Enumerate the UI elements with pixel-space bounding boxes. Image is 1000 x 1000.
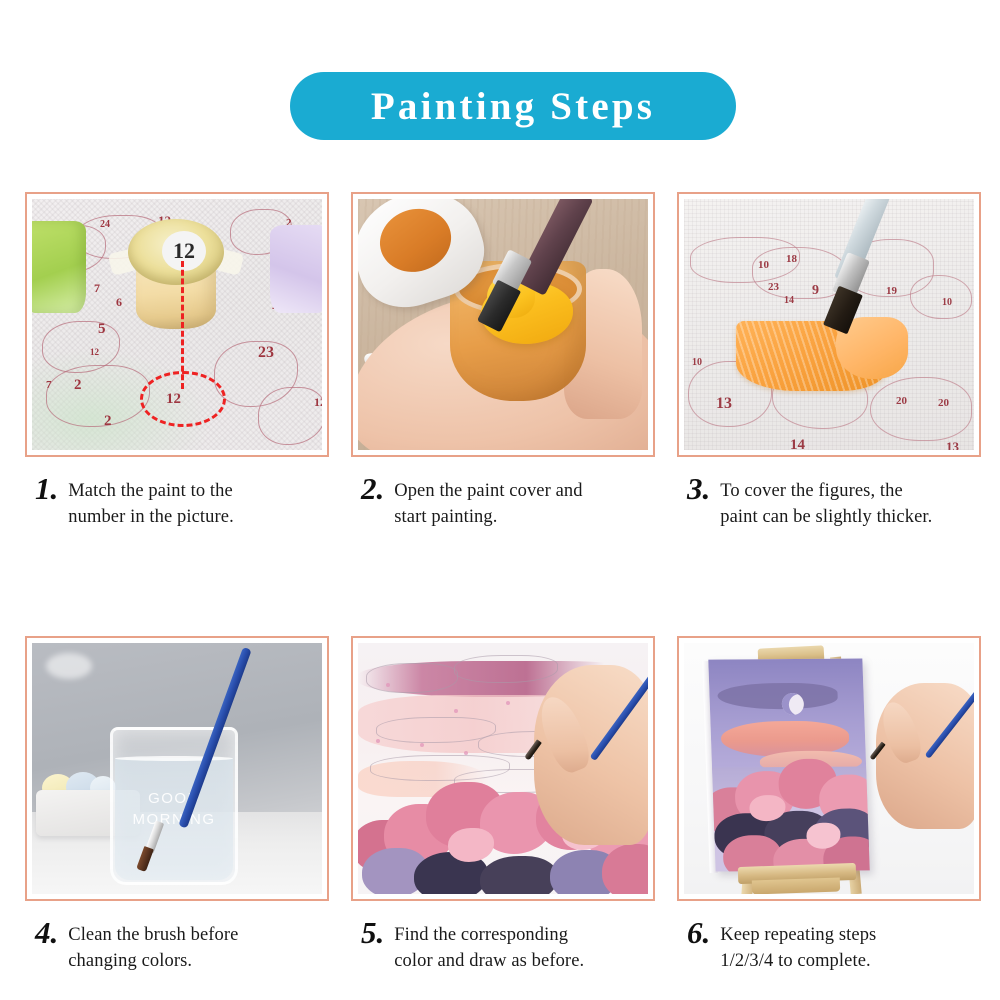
step-6: 6. Keep repeating steps 1/2/3/4 to compl… [677, 636, 981, 974]
step-5-text: Find the corresponding color and draw as… [394, 919, 584, 974]
canvas-number: 10 [942, 297, 952, 308]
easel-tray-lower [752, 877, 840, 894]
green-paint-pot [32, 221, 86, 313]
lid-paint-residue [372, 200, 460, 281]
step-1-text-line-2: number in the picture. [68, 504, 234, 530]
step-2-image-frame [351, 192, 655, 457]
open-paint-pot-with-brush-image [358, 199, 648, 450]
water-surface-line [115, 756, 233, 761]
step-6-number: 6. [687, 919, 710, 947]
canvas-number: 13 [716, 395, 732, 413]
step-6-caption: 6. Keep repeating steps 1/2/3/4 to compl… [677, 919, 981, 974]
canvas-marker-dot [454, 709, 458, 713]
step-2-number: 2. [361, 475, 384, 503]
step-5-text-line-2: color and draw as before. [394, 948, 584, 974]
step-3-text: To cover the figures, the paint can be s… [720, 475, 932, 530]
canvas-number: 7 [46, 379, 52, 391]
canvas-number: 9 [812, 283, 819, 299]
canvas-marker-dot [464, 751, 468, 755]
canvas-number: 20 [938, 397, 949, 409]
canvas-number: 12 [314, 395, 322, 410]
canvas-region-outline [258, 387, 322, 445]
step-5-caption: 5. Find the corresponding color and draw… [351, 919, 655, 974]
water-glass: GOOD MORNING [110, 727, 238, 885]
glass-printed-text: GOOD MORNING [113, 788, 235, 830]
canvas-number: 23 [258, 344, 274, 362]
foliage-shadow [480, 856, 558, 894]
paint-pot-matched-to-canvas-number-image: 12 24 2 7 6 5 2 2 23 24 23 12 12 7 [32, 199, 322, 450]
step-5: 5. Find the corresponding color and draw… [351, 636, 655, 974]
canvas-region-outline [454, 655, 558, 683]
canvas-marker-dot [376, 739, 380, 743]
paint-pot-number-label: 12 [162, 231, 206, 271]
step-2-text: Open the paint cover and start painting. [394, 475, 582, 530]
red-dashed-pointer-line [181, 261, 184, 389]
canvas-number: 12 [90, 347, 99, 357]
step-4: GOOD MORNING 4. Clean the brush before c… [25, 636, 329, 974]
rinse-brush-in-water-glass-image: GOOD MORNING [32, 643, 322, 894]
canvas-number: 10 [758, 259, 769, 271]
step-4-number: 4. [35, 919, 58, 947]
steps-grid: 12 24 2 7 6 5 2 2 23 24 23 12 12 7 [25, 192, 983, 974]
blossom-highlight [448, 828, 494, 862]
step-6-text-line-2: 1/2/3/4 to complete. [720, 948, 876, 974]
step-2-text-line-1: Open the paint cover and [394, 478, 582, 504]
canvas-marker-dot [420, 743, 424, 747]
brush-applying-thick-paint-image: 10 18 23 9 14 20 13 19 14 20 10 20 13 10 [684, 199, 974, 450]
step-2-text-line-2: start painting. [394, 504, 582, 530]
purple-paint-pot [270, 225, 322, 313]
step-3-text-line-2: paint can be slightly thicker. [720, 504, 932, 530]
highlighted-paint-pot: 12 [120, 219, 232, 334]
canvas-number: 2 [74, 377, 82, 394]
step-6-text: Keep repeating steps 1/2/3/4 to complete… [720, 919, 876, 974]
page-title: Painting Steps [371, 87, 655, 126]
glass-text-line-2: MORNING [113, 809, 235, 830]
step-2-caption: 2. Open the paint cover and start painti… [351, 475, 655, 530]
canvas-marker-dot [506, 701, 510, 705]
canvas-number: 14 [790, 437, 805, 450]
canvas-number: 13 [946, 439, 959, 450]
canvas-number: 10 [692, 357, 702, 368]
canvas-marker-dot [386, 683, 390, 687]
canvas-region-outline [910, 275, 972, 319]
step-3-number: 3. [687, 475, 710, 503]
painting-steps-infographic: Painting Steps 12 24 2 [0, 0, 1000, 1000]
step-1: 12 24 2 7 6 5 2 2 23 24 23 12 12 7 [25, 192, 329, 530]
canvas-number: 7 [94, 281, 100, 296]
canvas-number: 2 [104, 413, 112, 430]
canvas-region-outline [870, 377, 972, 441]
page-title-banner: Painting Steps [290, 72, 736, 140]
step-1-text-line-1: Match the paint to the [68, 478, 234, 504]
painting-blossom-canvas-in-progress-image [358, 643, 648, 894]
paint-pot-lid: 12 [128, 219, 224, 285]
canvas-region-outline [366, 663, 458, 693]
painted-cherry-blossoms [708, 756, 869, 871]
canvas-number: 24 [100, 219, 110, 230]
step-1-image-frame: 12 24 2 7 6 5 2 2 23 24 23 12 12 7 [25, 192, 329, 457]
red-dashed-highlight-ellipse [140, 371, 226, 427]
step-5-image-frame [351, 636, 655, 901]
step-4-text-line-2: changing colors. [68, 948, 238, 974]
step-2: 2. Open the paint cover and start painti… [351, 192, 655, 530]
step-4-caption: 4. Clean the brush before changing color… [25, 919, 329, 974]
step-1-text: Match the paint to the number in the pic… [68, 475, 234, 530]
highlighted-canvas-number: 12 [166, 391, 181, 408]
step-3: 10 18 23 9 14 20 13 19 14 20 10 20 13 10 [677, 192, 981, 530]
row-spacer [25, 530, 983, 636]
step-4-image-frame: GOOD MORNING [25, 636, 329, 901]
canvas-number: 5 [98, 321, 106, 338]
step-3-text-line-1: To cover the figures, the [720, 478, 932, 504]
step-4-text-line-1: Clean the brush before [68, 922, 238, 948]
step-1-caption: 1. Match the paint to the number in the … [25, 475, 329, 530]
canvas-number: 19 [886, 285, 897, 297]
step-6-image-frame [677, 636, 981, 901]
step-5-text-line-1: Find the corresponding [394, 922, 584, 948]
step-6-text-line-1: Keep repeating steps [720, 922, 876, 948]
glass-text-line-1: GOOD [113, 788, 235, 809]
crescent-moon [781, 693, 804, 715]
finished-painting-on-easel-image [684, 643, 974, 894]
step-3-caption: 3. To cover the figures, the paint can b… [677, 475, 981, 530]
step-3-image-frame: 10 18 23 9 14 20 13 19 14 20 10 20 13 10 [677, 192, 981, 457]
canvas-number: 23 [768, 281, 779, 293]
canvas-number: 20 [896, 395, 907, 407]
canvas-number: 14 [784, 295, 794, 306]
canvas-region-outline [376, 717, 496, 743]
canvas-number: 18 [786, 253, 797, 265]
finished-painting-canvas [708, 659, 869, 872]
background-object [46, 653, 92, 679]
step-4-text: Clean the brush before changing colors. [68, 919, 238, 974]
step-5-number: 5. [361, 919, 384, 947]
step-1-number: 1. [35, 475, 58, 503]
